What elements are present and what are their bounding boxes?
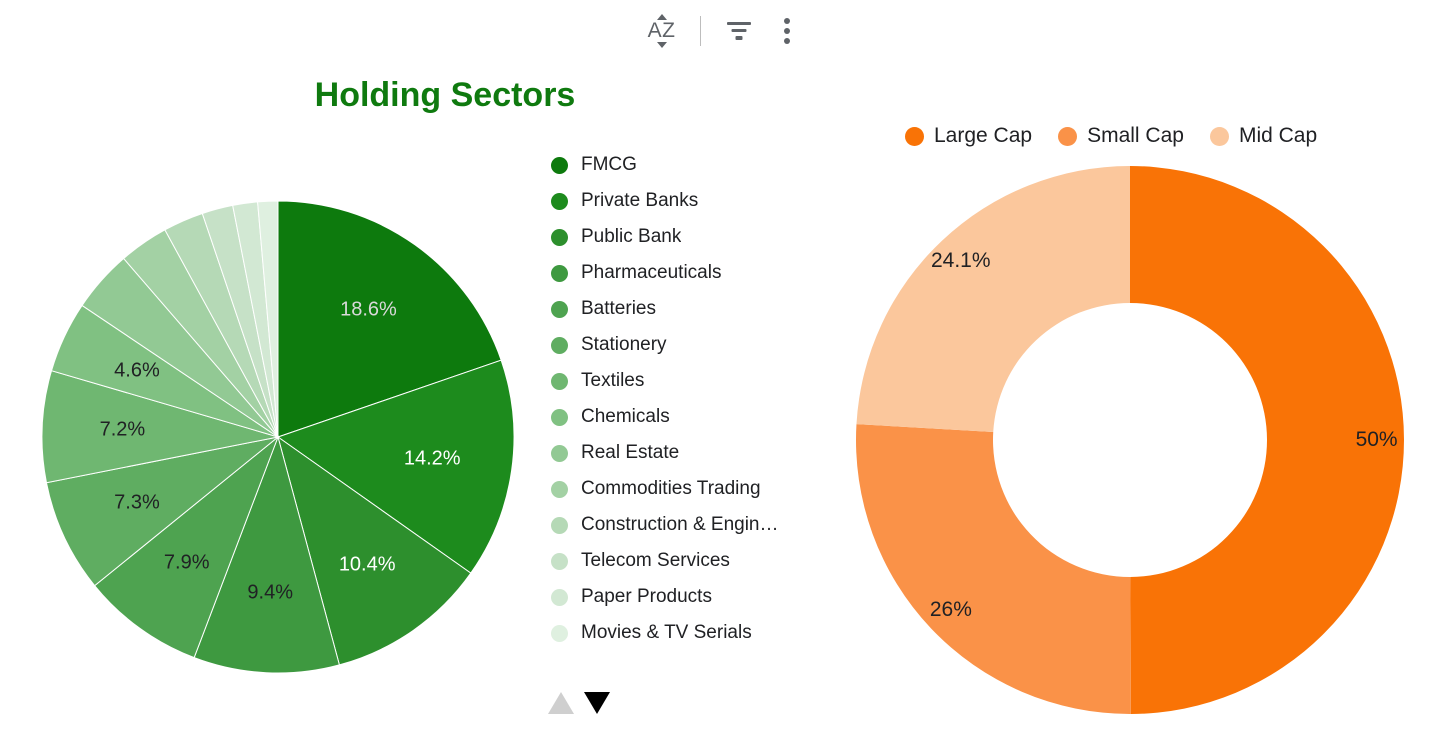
pie-svg <box>41 200 515 674</box>
legend-item[interactable]: Private Banks <box>551 183 841 219</box>
legend-color-dot <box>551 229 568 246</box>
equity-legend-color-dot <box>905 127 924 146</box>
legend-pager <box>548 692 610 714</box>
legend-color-dot <box>551 157 568 174</box>
donut-slice[interactable] <box>1130 166 1404 714</box>
legend-page-up-icon[interactable] <box>548 692 574 714</box>
legend-item-label: Chemicals <box>581 406 670 428</box>
legend-item[interactable]: Public Bank <box>551 219 841 255</box>
legend-item-label: Pharmaceuticals <box>581 262 721 284</box>
legend-color-dot <box>551 445 568 462</box>
legend-item-label: Construction & Engin… <box>581 514 779 536</box>
legend-item-label: Real Estate <box>581 442 679 464</box>
legend-page-down-icon[interactable] <box>584 692 610 714</box>
legend-color-dot <box>551 625 568 642</box>
equity-legend-item[interactable]: Small Cap <box>1058 124 1184 148</box>
legend-color-dot <box>551 589 568 606</box>
legend-item[interactable]: Movies & TV Serials <box>551 615 841 651</box>
donut-svg <box>855 165 1405 715</box>
legend-color-dot <box>551 517 568 534</box>
legend-color-dot <box>551 409 568 426</box>
equity-legend-color-dot <box>1058 127 1077 146</box>
holding-sectors-legend: FMCGPrivate BanksPublic BankPharmaceutic… <box>551 147 841 651</box>
legend-color-dot <box>551 481 568 498</box>
equity-legend-item[interactable]: Mid Cap <box>1210 124 1317 148</box>
equity-legend-color-dot <box>1210 127 1229 146</box>
equity-legend-item[interactable]: Large Cap <box>905 124 1032 148</box>
equity-legend-item-label: Small Cap <box>1087 124 1184 148</box>
legend-item[interactable]: Stationery <box>551 327 841 363</box>
holding-equity-panel: Holding Equity Large CapSmall CapMid Cap… <box>850 0 1448 740</box>
legend-color-dot <box>551 337 568 354</box>
legend-item[interactable]: Paper Products <box>551 579 841 615</box>
holding-sectors-panel: Holding Sectors 18.6%14.2%10.4%9.4%7.9%7… <box>0 0 850 740</box>
legend-item[interactable]: Real Estate <box>551 435 841 471</box>
donut-slice[interactable] <box>856 424 1131 714</box>
legend-item-label: Batteries <box>581 298 656 320</box>
legend-item-label: Telecom Services <box>581 550 730 572</box>
holding-equity-donut-chart[interactable]: 50%26%24.1% <box>855 165 1405 715</box>
legend-item-label: Textiles <box>581 370 644 392</box>
legend-item-label: Movies & TV Serials <box>581 622 752 644</box>
legend-item-label: Paper Products <box>581 586 712 608</box>
legend-color-dot <box>551 193 568 210</box>
legend-item[interactable]: Construction & Engin… <box>551 507 841 543</box>
legend-item[interactable]: Batteries <box>551 291 841 327</box>
donut-slice[interactable] <box>856 166 1130 432</box>
legend-item[interactable]: Telecom Services <box>551 543 841 579</box>
equity-legend-item-label: Mid Cap <box>1239 124 1317 148</box>
holding-sectors-title: Holding Sectors <box>0 76 890 115</box>
legend-item-label: Public Bank <box>581 226 681 248</box>
legend-color-dot <box>551 553 568 570</box>
legend-color-dot <box>551 373 568 390</box>
legend-item-label: FMCG <box>581 154 637 176</box>
legend-item[interactable]: Chemicals <box>551 399 841 435</box>
legend-item[interactable]: FMCG <box>551 147 841 183</box>
legend-item-label: Stationery <box>581 334 667 356</box>
legend-item-label: Private Banks <box>581 190 698 212</box>
legend-item-label: Commodities Trading <box>581 478 761 500</box>
holding-sectors-pie-chart[interactable]: 18.6%14.2%10.4%9.4%7.9%7.3%7.2%4.6% <box>41 200 515 674</box>
legend-item[interactable]: Textiles <box>551 363 841 399</box>
legend-item[interactable]: Commodities Trading <box>551 471 841 507</box>
equity-legend-item-label: Large Cap <box>934 124 1032 148</box>
legend-color-dot <box>551 301 568 318</box>
legend-color-dot <box>551 265 568 282</box>
holding-equity-legend: Large CapSmall CapMid Cap <box>905 124 1343 148</box>
legend-item[interactable]: Pharmaceuticals <box>551 255 841 291</box>
